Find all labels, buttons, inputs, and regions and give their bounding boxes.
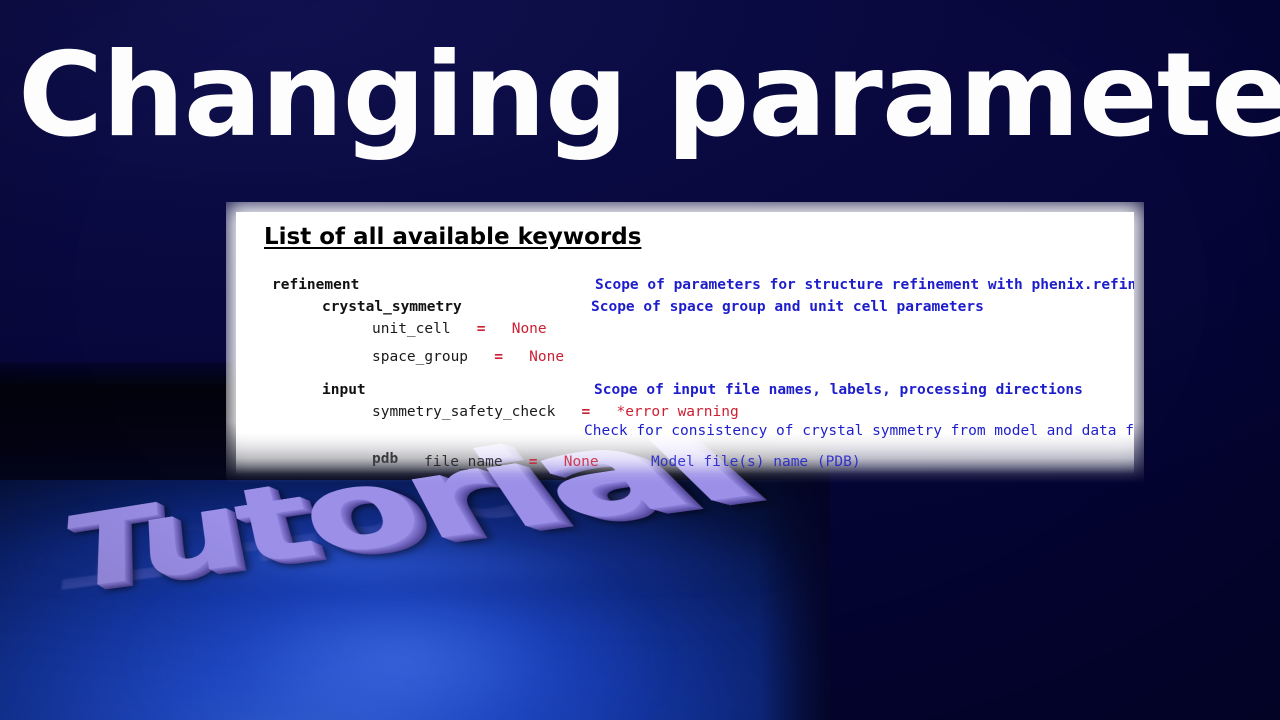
param-value: None <box>529 349 564 365</box>
param-name: unit_cell <box>372 321 451 337</box>
param-operator: = <box>529 454 538 470</box>
comment-text: Scope of space group and unit cell param… <box>591 299 984 315</box>
param-value: None <box>564 454 599 470</box>
param-value: *error warning <box>616 404 738 420</box>
slide-canvas: Tutorial Tutorial Changing parameters Li… <box>0 0 1280 720</box>
keyword-name: input <box>322 382 366 398</box>
keyword-row-input: input <box>322 383 366 398</box>
panel-heading: List of all available keywords <box>264 224 641 250</box>
keyword-comment-refinement: Scope of parameters for structure refine… <box>595 278 1134 293</box>
comment-text: Model file(s) name (PDB) <box>651 454 861 470</box>
param-operator: = <box>582 404 591 420</box>
keyword-row-refinement: refinement <box>272 278 359 293</box>
keyword-name: refinement <box>272 277 359 293</box>
param-name: space_group <box>372 349 468 365</box>
panel-surface: List of all available keywords refinemen… <box>236 212 1134 474</box>
param-row-unit-cell: unit_cell = None <box>372 322 547 337</box>
param-row-file-name: file_name = None Model file(s) name (PDB… <box>424 455 861 470</box>
keyword-panel: List of all available keywords refinemen… <box>236 212 1134 474</box>
param-row-symmetry-safety-check: symmetry_safety_check = *error warning <box>372 405 739 420</box>
keyword-row-pdb: pdb <box>372 452 398 467</box>
comment-text: Scope of parameters for structure refine… <box>595 277 1134 293</box>
param-name: symmetry_safety_check <box>372 404 555 420</box>
param-name: file_name <box>424 454 503 470</box>
param-comment-symmetry-safety-check: Check for consistency of crystal symmetr… <box>584 424 1134 439</box>
keyword-comment-crystal-symmetry: Scope of space group and unit cell param… <box>591 300 984 315</box>
param-value: None <box>512 321 547 337</box>
param-row-space-group: space_group = None <box>372 350 564 365</box>
comment-text: Scope of input file names, labels, proce… <box>594 382 1083 398</box>
comment-text: Check for consistency of crystal symmetr… <box>584 423 1134 439</box>
keyword-comment-input: Scope of input file names, labels, proce… <box>594 383 1083 398</box>
param-operator: = <box>477 321 486 337</box>
param-operator: = <box>494 349 503 365</box>
keyword-row-crystal-symmetry: crystal_symmetry <box>322 300 462 315</box>
slide-title: Changing parameters <box>18 38 1268 154</box>
keyword-name: pdb <box>372 451 398 467</box>
keyword-name: crystal_symmetry <box>322 299 462 315</box>
